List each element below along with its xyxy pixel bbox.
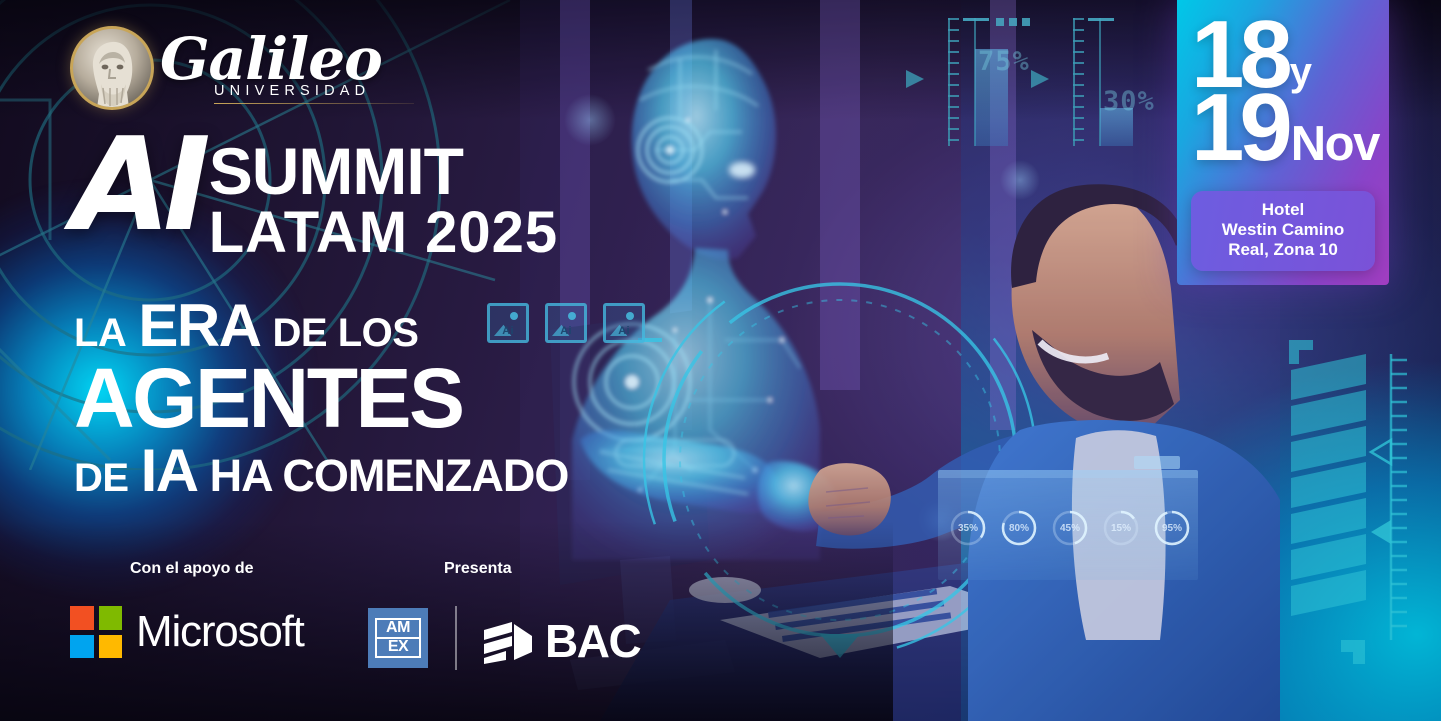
- university-subtitle: UNIVERSIDAD: [214, 83, 414, 99]
- hud-ruler: [948, 18, 959, 146]
- microsoft-squares-icon: [70, 606, 122, 658]
- hud-cap: [963, 18, 989, 21]
- headline-era: ERA: [138, 296, 260, 356]
- university-name: Galileo: [160, 32, 414, 87]
- hud-bar-gauge-1: 75%: [948, 18, 1028, 146]
- galileo-wordmark: Galileo UNIVERSIDAD: [160, 32, 414, 105]
- logo-rule: [214, 103, 414, 105]
- ms-square-green: [99, 606, 123, 630]
- dial-value: 80%: [999, 508, 1039, 548]
- headline-ha-comenzado: HA COMENZADO: [210, 453, 569, 498]
- percent-dial: 95%: [1152, 508, 1192, 548]
- date-panel: 18 y 19 Nov Hotel Westin Camino Real, Zo…: [1177, 0, 1389, 285]
- headline-agentes: AGENTES: [74, 358, 463, 439]
- microsoft-name: Microsoft: [136, 607, 304, 657]
- headline-de: DE: [74, 458, 129, 498]
- ai-summit-banner: 75% 30% Ai Ai Ai: [0, 0, 1441, 721]
- hud-dots: [996, 18, 1030, 26]
- ai-mark: AI: [72, 136, 203, 236]
- dial-value: 15%: [1101, 508, 1141, 548]
- hud-arrow-marker: [1031, 70, 1049, 88]
- headline: LA ERA DE LOS AGENTES DE IA HA COMENZADO: [74, 296, 568, 501]
- hud-cap: [1088, 18, 1114, 21]
- amex-line-1: AM: [375, 618, 421, 639]
- event-title-lockup: AI SUMMIT LATAM 2025: [72, 136, 558, 262]
- month-label: Nov: [1291, 124, 1379, 164]
- galileo-bust-portrait-icon: [70, 26, 154, 110]
- presents-label: Presenta: [444, 560, 512, 578]
- amex-logo: AM EX: [368, 608, 428, 668]
- dial-value: 95%: [1152, 508, 1192, 548]
- day-2: 19: [1191, 89, 1288, 168]
- edge-stripe-decoration: [1271, 340, 1441, 670]
- venue-line-3: Real, Zona 10: [1197, 240, 1369, 260]
- percent-dial: 45%: [1050, 508, 1090, 548]
- venue-box: Hotel Westin Camino Real, Zona 10: [1191, 191, 1375, 271]
- latam-year-text: LATAM 2025: [209, 204, 558, 262]
- venue-line-1: Hotel: [1197, 200, 1369, 220]
- hud-gauge-value: 75%: [978, 46, 1030, 77]
- headline-la: LA: [74, 313, 126, 353]
- hud-percentage-dials: 35% 80% 45% 15% 95%: [948, 508, 1192, 548]
- headline-ia: IA: [141, 441, 198, 501]
- date-conjunction: y: [1290, 56, 1312, 89]
- bac-logo: BAC: [482, 614, 640, 668]
- ms-square-blue: [70, 635, 94, 659]
- hud-ruler: [1073, 18, 1084, 146]
- sponsors-section: Con el apoyo de Presenta Microsoft: [70, 560, 630, 684]
- bac-emblem-icon: [482, 618, 536, 664]
- hud-gauge-value: 30%: [1103, 86, 1155, 117]
- support-label: Con el apoyo de: [130, 560, 254, 578]
- summit-text: SUMMIT: [209, 141, 558, 202]
- hud-bar-gauge-2: 30%: [1073, 18, 1153, 146]
- event-dates: 18 y 19 Nov: [1191, 16, 1379, 167]
- percent-dial: 80%: [999, 508, 1039, 548]
- hud-panel-notch: [1134, 456, 1180, 469]
- percent-dial: 35%: [948, 508, 988, 548]
- dial-value: 45%: [1050, 508, 1090, 548]
- amex-line-2: EX: [375, 639, 421, 658]
- hud-arrow-marker: [906, 70, 924, 88]
- venue-line-2: Westin Camino: [1197, 220, 1369, 240]
- ms-square-red: [70, 606, 94, 630]
- percent-dial: 15%: [1101, 508, 1141, 548]
- bac-name: BAC: [545, 614, 640, 668]
- dial-value: 35%: [948, 508, 988, 548]
- ms-square-yellow: [99, 635, 123, 659]
- headline-de-los: DE LOS: [273, 313, 419, 353]
- microsoft-logo: Microsoft: [70, 606, 304, 658]
- sponsor-divider: [455, 606, 457, 670]
- left-content: Galileo UNIVERSIDAD AI SUMMIT LATAM 2025…: [0, 0, 640, 721]
- galileo-logo: Galileo UNIVERSIDAD: [70, 26, 414, 110]
